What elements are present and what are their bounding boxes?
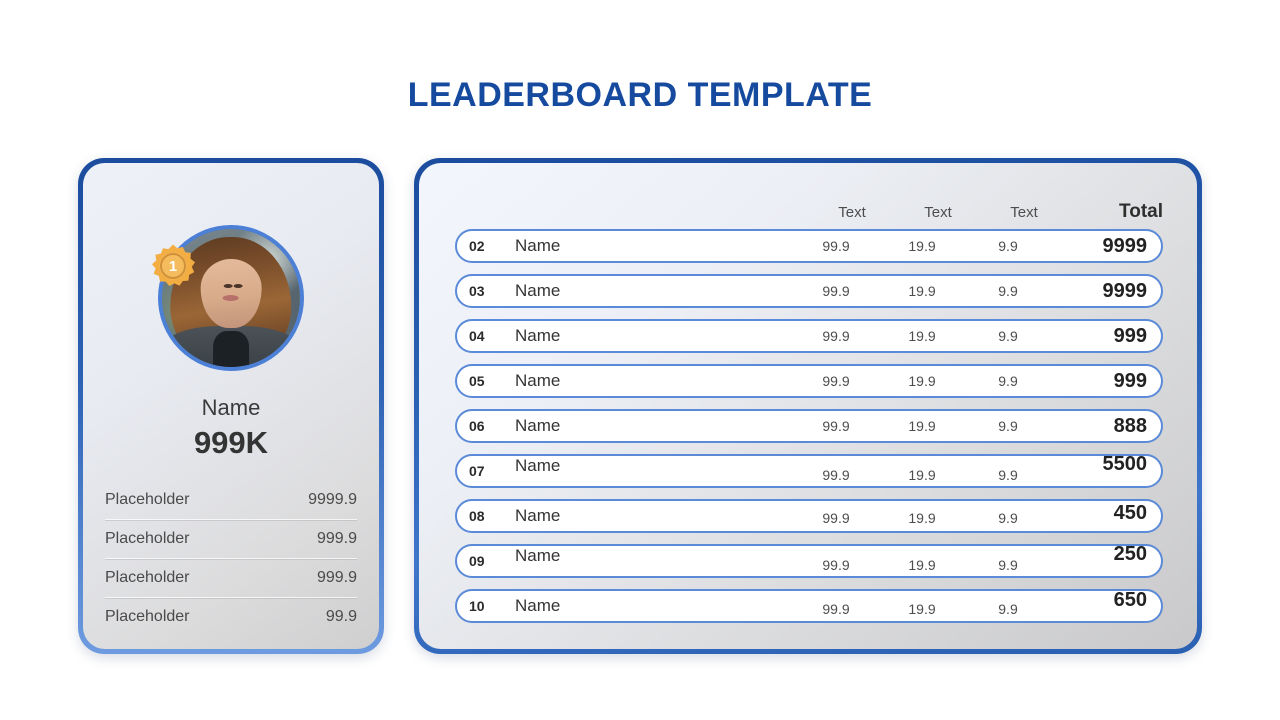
stat-value: 999.9 [317, 569, 357, 587]
table-row[interactable]: 08 Name 99.9 19.9 9.9 450 [455, 499, 1163, 533]
table-row[interactable]: 10 Name 99.9 19.9 9.9 650 [455, 589, 1163, 623]
stat-value: 99.9 [326, 608, 357, 626]
row-col-3: 9.9 [965, 328, 1051, 344]
row-rank: 04 [469, 328, 515, 344]
profile-card: 1 Name 999K Placeholder 9999.9 Placehold… [78, 158, 384, 654]
table-row[interactable]: 07 Name 99.9 19.9 9.9 5500 [455, 454, 1163, 488]
avatar[interactable]: 1 [158, 225, 304, 371]
row-total: 250 [1051, 543, 1147, 566]
row-col-2: 19.9 [879, 283, 965, 299]
stat-label: Placeholder [105, 608, 190, 626]
row-name: Name [515, 506, 793, 526]
row-col-3: 9.9 [965, 418, 1051, 434]
row-rank: 02 [469, 238, 515, 254]
row-col-3: 9.9 [965, 283, 1051, 299]
row-col-1: 99.9 [793, 283, 879, 299]
row-col-3: 9.9 [965, 373, 1051, 389]
leaderboard-body: Text Text Text Total 02 Name 99.9 19.9 9… [419, 163, 1197, 649]
stat-label: Placeholder [105, 530, 190, 548]
header-col-2: Text [895, 204, 981, 221]
table-row[interactable]: 09 Name 99.9 19.9 9.9 250 [455, 544, 1163, 578]
row-col-2: 19.9 [879, 418, 965, 434]
table-row[interactable]: 06 Name 99.9 19.9 9.9 888 [455, 409, 1163, 443]
row-col-2: 19.9 [879, 467, 965, 483]
row-col-3: 9.9 [965, 510, 1051, 526]
row-name: Name [515, 416, 793, 436]
row-col-2: 19.9 [879, 328, 965, 344]
row-total: 9999 [1051, 235, 1147, 258]
header-col-1: Text [809, 204, 895, 221]
stat-label: Placeholder [105, 491, 190, 509]
row-col-3: 9.9 [965, 238, 1051, 254]
row-col-3: 9.9 [965, 557, 1051, 573]
table-row[interactable]: 05 Name 99.9 19.9 9.9 999 [455, 364, 1163, 398]
row-col-3: 9.9 [965, 601, 1051, 617]
row-rank: 05 [469, 373, 515, 389]
row-total: 5500 [1051, 453, 1147, 476]
row-total: 9999 [1051, 280, 1147, 303]
row-col-1: 99.9 [793, 467, 879, 483]
row-name: Name [515, 456, 793, 476]
list-item: Placeholder 99.9 [105, 598, 357, 636]
list-item: Placeholder 9999.9 [105, 481, 357, 520]
row-rank: 06 [469, 418, 515, 434]
profile-card-body: 1 Name 999K Placeholder 9999.9 Placehold… [83, 163, 379, 649]
row-col-1: 99.9 [793, 418, 879, 434]
table-row[interactable]: 04 Name 99.9 19.9 9.9 999 [455, 319, 1163, 353]
stat-value: 9999.9 [308, 491, 357, 509]
header-total: Total [1067, 201, 1163, 223]
row-total: 888 [1051, 415, 1147, 438]
row-name: Name [515, 596, 793, 616]
leaderboard-rows: 02 Name 99.9 19.9 9.9 9999 03 Name 99.9 … [455, 229, 1163, 629]
page-title: LEADERBOARD TEMPLATE [0, 76, 1280, 115]
list-item: Placeholder 999.9 [105, 520, 357, 559]
row-rank: 07 [469, 463, 515, 479]
row-col-3: 9.9 [965, 467, 1051, 483]
row-name: Name [515, 236, 793, 256]
profile-stat-list: Placeholder 9999.9 Placeholder 999.9 Pla… [105, 481, 357, 636]
list-item: Placeholder 999.9 [105, 559, 357, 598]
row-col-1: 99.9 [793, 238, 879, 254]
row-col-1: 99.9 [793, 601, 879, 617]
stat-value: 999.9 [317, 530, 357, 548]
row-total: 450 [1051, 502, 1147, 525]
row-total: 999 [1051, 325, 1147, 348]
row-col-2: 19.9 [879, 373, 965, 389]
row-col-2: 19.9 [879, 601, 965, 617]
table-header-row: Text Text Text Total [455, 201, 1163, 223]
medal-badge-icon: 1 [150, 243, 196, 289]
row-name: Name [515, 281, 793, 301]
row-rank: 09 [469, 553, 515, 569]
row-name: Name [515, 546, 793, 566]
row-rank: 08 [469, 508, 515, 524]
stat-label: Placeholder [105, 569, 190, 587]
row-rank: 10 [469, 598, 515, 614]
row-col-1: 99.9 [793, 328, 879, 344]
profile-name: Name [83, 395, 379, 421]
leaderboard-panel: Text Text Text Total 02 Name 99.9 19.9 9… [414, 158, 1202, 654]
row-name: Name [515, 371, 793, 391]
row-col-2: 19.9 [879, 510, 965, 526]
badge-rank-number: 1 [150, 243, 196, 289]
profile-score: 999K [83, 425, 379, 461]
table-row[interactable]: 03 Name 99.9 19.9 9.9 9999 [455, 274, 1163, 308]
row-rank: 03 [469, 283, 515, 299]
row-col-1: 99.9 [793, 510, 879, 526]
row-total: 650 [1051, 589, 1147, 612]
row-col-1: 99.9 [793, 373, 879, 389]
header-col-3: Text [981, 204, 1067, 221]
row-total: 999 [1051, 370, 1147, 393]
row-col-1: 99.9 [793, 557, 879, 573]
row-col-2: 19.9 [879, 557, 965, 573]
table-row[interactable]: 02 Name 99.9 19.9 9.9 9999 [455, 229, 1163, 263]
row-col-2: 19.9 [879, 238, 965, 254]
row-name: Name [515, 326, 793, 346]
